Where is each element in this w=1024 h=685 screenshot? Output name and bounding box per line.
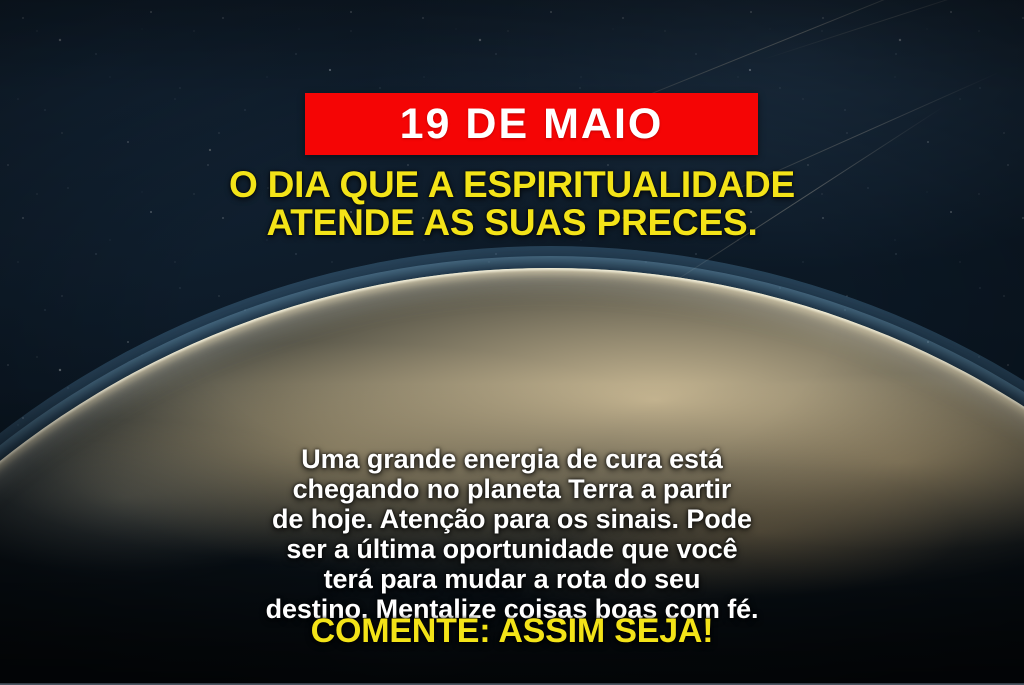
body-text: Uma grande energia de cura está chegando… bbox=[0, 444, 1024, 624]
headline-line-2: ATENDE AS SUAS PRECES. bbox=[0, 204, 1024, 242]
body-line-1: Uma grande energia de cura está bbox=[0, 444, 1024, 474]
call-to-action-text: COMENTE: ASSIM SEJA! bbox=[0, 613, 1024, 649]
poster-image: 19 DE MAIO O DIA QUE A ESPIRITUALIDADE A… bbox=[0, 0, 1024, 685]
body-line-5: terá para mudar a rota do seu bbox=[0, 564, 1024, 594]
page-title: O DIA QUE A ESPIRITUALIDADE ATENDE AS SU… bbox=[0, 166, 1024, 242]
poster-content: 19 DE MAIO O DIA QUE A ESPIRITUALIDADE A… bbox=[0, 0, 1024, 685]
date-banner: 19 DE MAIO bbox=[305, 93, 758, 155]
body-line-2: chegando no planeta Terra a partir bbox=[0, 474, 1024, 504]
body-line-3: de hoje. Atenção para os sinais. Pode bbox=[0, 504, 1024, 534]
date-banner-label: 19 DE MAIO bbox=[400, 103, 664, 146]
body-line-4: ser a última oportunidade que você bbox=[0, 534, 1024, 564]
headline-line-1: O DIA QUE A ESPIRITUALIDADE bbox=[0, 166, 1024, 204]
